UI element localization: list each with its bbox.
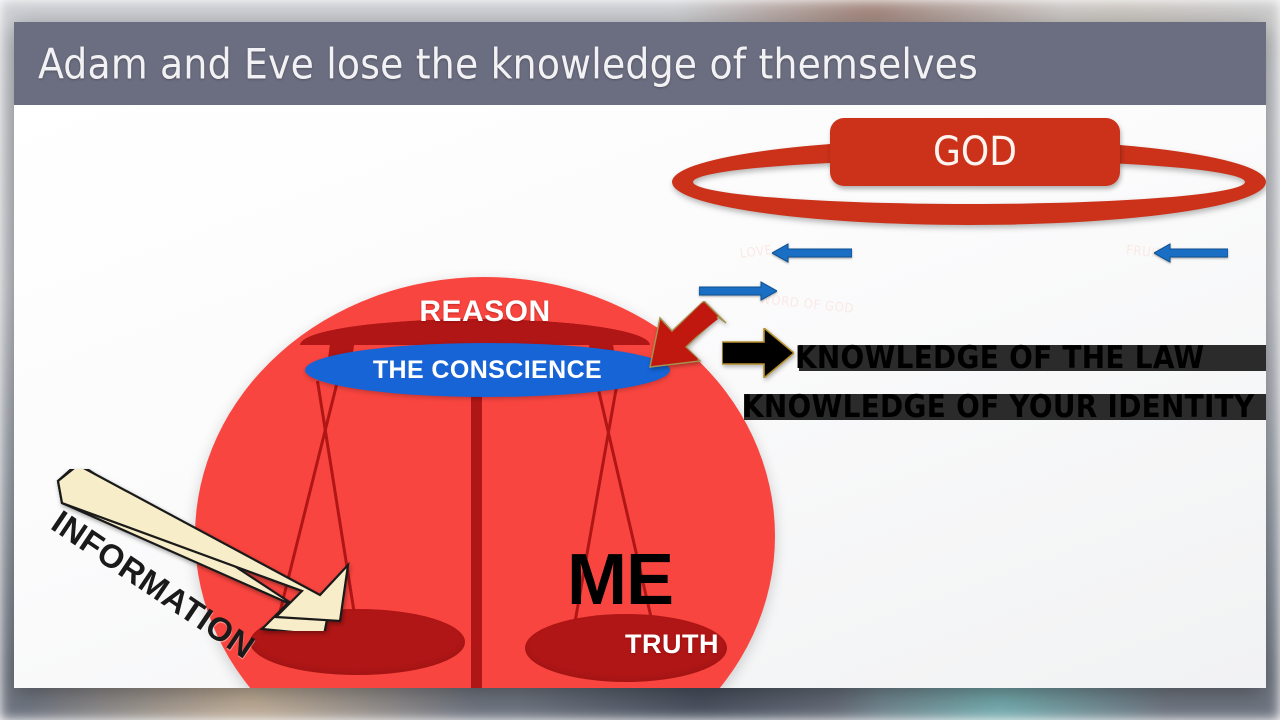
black-right-arrow-icon bbox=[722, 328, 794, 378]
blue-left-arrow-fruit-icon bbox=[1154, 243, 1228, 263]
me-label: ME bbox=[567, 539, 673, 621]
god-ring-diagram: GOD LOVE FRUIT WORD OF GOD bbox=[664, 115, 1266, 230]
conscience-ellipse: THE CONSCIENCE bbox=[305, 343, 670, 397]
god-box: GOD bbox=[830, 118, 1120, 186]
reason-label: REASON bbox=[419, 295, 550, 329]
god-label: GOD bbox=[830, 118, 1120, 186]
blue-left-arrow-love-icon bbox=[772, 243, 852, 263]
red-down-left-arrow-icon bbox=[648, 301, 728, 379]
scale-post bbox=[471, 353, 482, 688]
knowledge-of-the-law-text: KNOWLEDGE OF THE LAW bbox=[795, 340, 1204, 376]
truth-label: TRUTH bbox=[625, 629, 719, 660]
conscience-label: THE CONSCIENCE bbox=[305, 343, 670, 397]
slide-title-bar: Adam and Eve lose the knowledge of thems… bbox=[14, 22, 1266, 105]
presentation-slide: Adam and Eve lose the knowledge of thems… bbox=[14, 22, 1266, 688]
slide-content-area: GOD LOVE FRUIT WORD OF GOD bbox=[14, 105, 1266, 688]
knowledge-of-your-identity-text: KNOWLEDGE OF YOUR IDENTITY bbox=[742, 389, 1255, 425]
page-title: Adam and Eve lose the knowledge of thems… bbox=[38, 39, 978, 88]
ring-label-love: LOVE bbox=[739, 243, 773, 262]
